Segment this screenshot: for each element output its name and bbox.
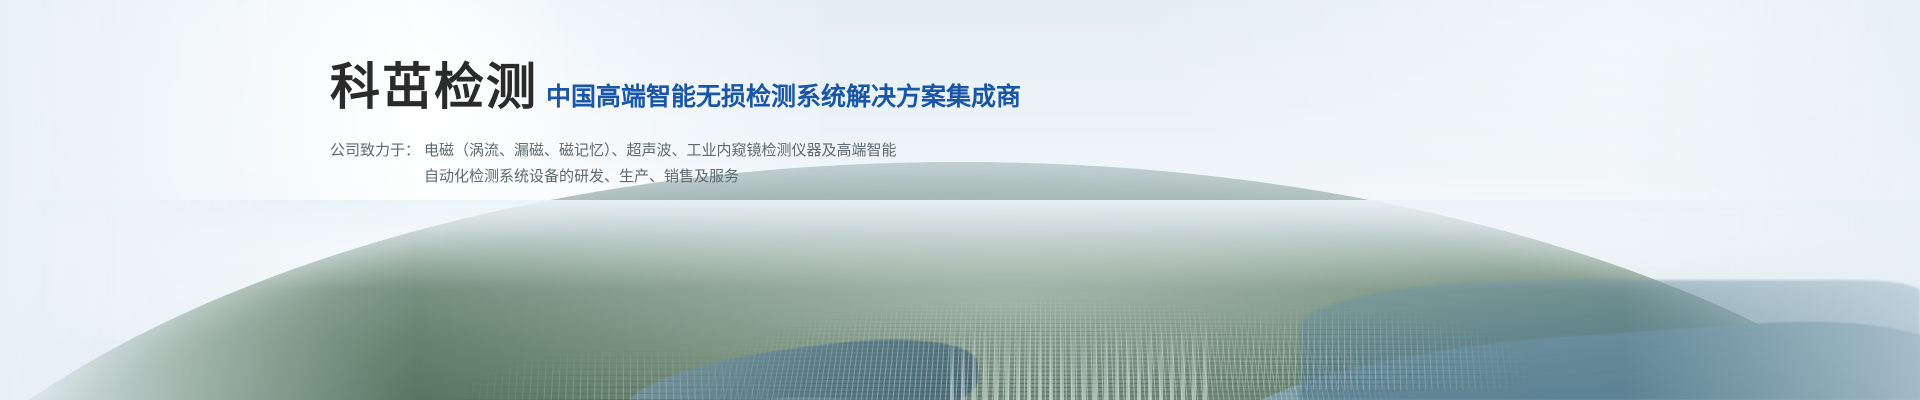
headline-row: 科茁检测 中国高端智能无损检测系统解决方案集成商 — [330, 62, 1021, 113]
brand-slogan: 中国高端智能无损检测系统解决方案集成商 — [546, 84, 1021, 113]
description-lines: 电磁（涡流、漏磁、磁记忆）、超声波、工业内窥镜检测仪器及高端智能 自动化检测系统… — [424, 137, 897, 190]
hero-banner: 科茁检测 中国高端智能无损检测系统解决方案集成商 公司致力于： 电磁（涡流、漏磁… — [0, 0, 1920, 400]
description-line-2: 自动化检测系统设备的研发、生产、销售及服务 — [424, 163, 897, 189]
banner-text-block: 科茁检测 中国高端智能无损检测系统解决方案集成商 公司致力于： 电磁（涡流、漏磁… — [330, 62, 1021, 190]
brand-name: 科茁检测 — [330, 62, 538, 113]
company-description: 公司致力于： 电磁（涡流、漏磁、磁记忆）、超声波、工业内窥镜检测仪器及高端智能 … — [330, 137, 1021, 190]
description-line-1: 电磁（涡流、漏磁、磁记忆）、超声波、工业内窥镜检测仪器及高端智能 — [424, 137, 897, 163]
ocean-right-foreground — [1300, 280, 1920, 400]
description-label: 公司致力于： — [330, 137, 420, 163]
